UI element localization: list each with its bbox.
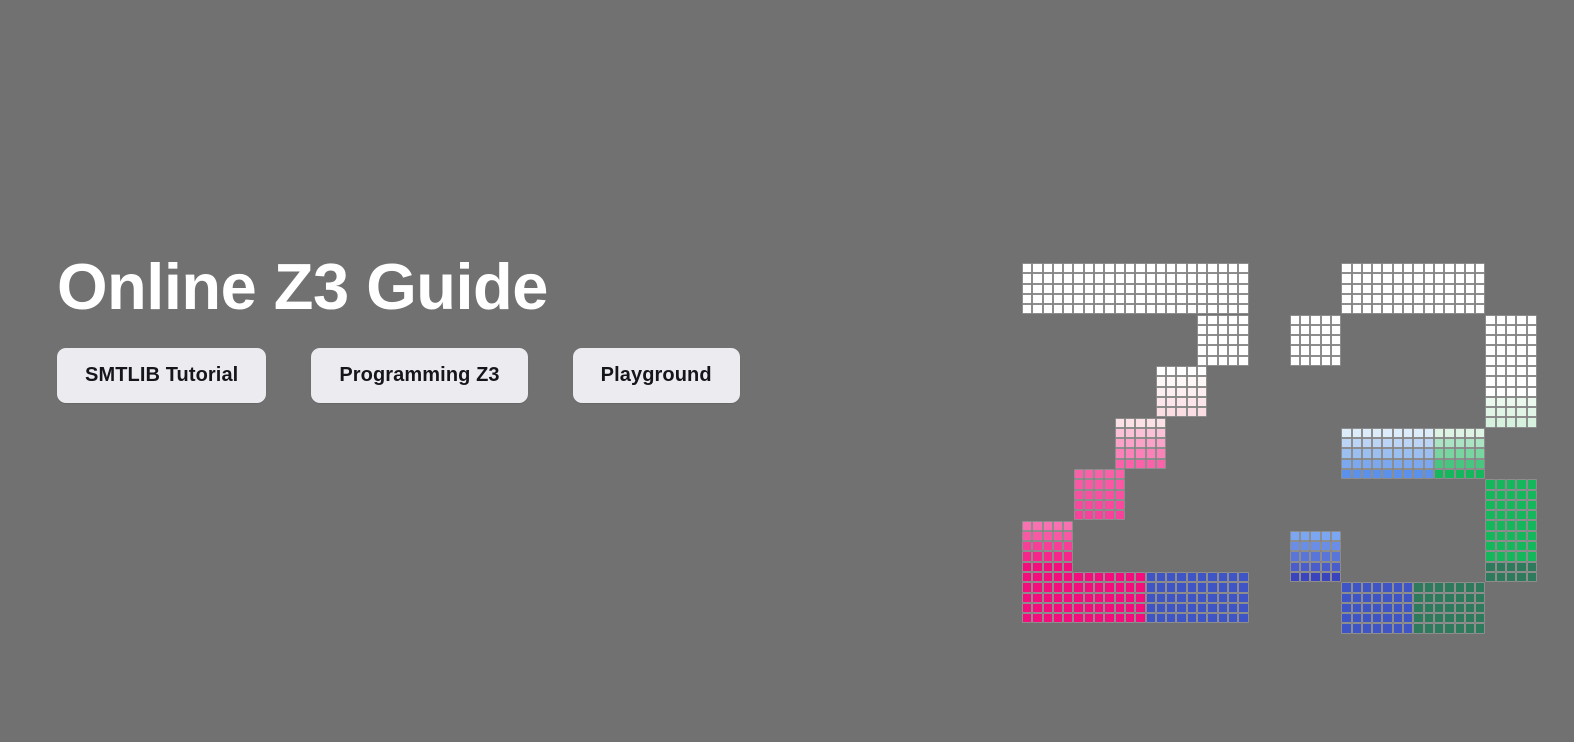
logo-pixel-cell — [1382, 448, 1392, 458]
logo-pixel-cell — [1444, 284, 1454, 294]
logo-pixel-cell — [1506, 500, 1516, 510]
logo-pixel-cell — [1352, 304, 1362, 314]
logo-pixel-cell — [1104, 294, 1114, 304]
logo-pixel-cell — [1403, 459, 1413, 469]
logo-pixel-cell — [1166, 263, 1176, 273]
logo-pixel-cell — [1218, 335, 1228, 345]
logo-pixel-cell — [1146, 273, 1156, 283]
logo-pixel-cell — [1022, 582, 1032, 592]
logo-pixel-cell — [1073, 284, 1083, 294]
three-mid-green — [1434, 428, 1485, 479]
z-top-bar — [1022, 263, 1249, 314]
logo-pixel-cell — [1331, 572, 1341, 582]
logo-pixel-cell — [1197, 366, 1207, 376]
logo-pixel-cell — [1290, 325, 1300, 335]
logo-pixel-cell — [1424, 438, 1434, 448]
logo-pixel-cell — [1321, 335, 1331, 345]
logo-pixel-cell — [1032, 294, 1042, 304]
logo-pixel-cell — [1135, 428, 1145, 438]
logo-pixel-cell — [1434, 428, 1444, 438]
logo-pixel-cell — [1321, 541, 1331, 551]
logo-pixel-cell — [1352, 582, 1362, 592]
logo-pixel-cell — [1434, 603, 1444, 613]
logo-pixel-cell — [1166, 284, 1176, 294]
logo-pixel-cell — [1197, 603, 1207, 613]
logo-pixel-cell — [1321, 531, 1331, 541]
logo-pixel-cell — [1362, 284, 1372, 294]
logo-pixel-cell — [1146, 304, 1156, 314]
logo-pixel-cell — [1341, 582, 1351, 592]
logo-pixel-cell — [1300, 356, 1310, 366]
logo-pixel-cell — [1434, 263, 1444, 273]
logo-pixel-cell — [1455, 263, 1465, 273]
logo-pixel-cell — [1290, 345, 1300, 355]
logo-pixel-cell — [1125, 428, 1135, 438]
logo-pixel-cell — [1207, 572, 1217, 582]
logo-pixel-cell — [1166, 572, 1176, 582]
logo-pixel-cell — [1207, 356, 1217, 366]
logo-pixel-cell — [1496, 376, 1506, 386]
logo-pixel-cell — [1032, 572, 1042, 582]
logo-pixel-cell — [1043, 603, 1053, 613]
three-upper-right — [1485, 315, 1536, 397]
logo-pixel-cell — [1496, 397, 1506, 407]
logo-pixel-cell — [1310, 531, 1320, 541]
logo-pixel-cell — [1382, 582, 1392, 592]
logo-pixel-cell — [1527, 551, 1537, 561]
logo-pixel-cell — [1393, 273, 1403, 283]
logo-pixel-cell — [1393, 613, 1403, 623]
logo-pixel-cell — [1506, 490, 1516, 500]
logo-pixel-cell — [1032, 263, 1042, 273]
logo-pixel-cell — [1187, 387, 1197, 397]
logo-pixel-cell — [1094, 294, 1104, 304]
logo-pixel-cell — [1146, 582, 1156, 592]
logo-pixel-cell — [1516, 572, 1526, 582]
logo-pixel-cell — [1125, 273, 1135, 283]
logo-pixel-cell — [1063, 613, 1073, 623]
logo-pixel-cell — [1352, 284, 1362, 294]
smtlib-tutorial-button[interactable]: SMTLIB Tutorial — [57, 348, 266, 403]
logo-pixel-cell — [1228, 315, 1238, 325]
logo-pixel-cell — [1403, 593, 1413, 603]
logo-pixel-cell — [1084, 273, 1094, 283]
logo-pixel-cell — [1228, 263, 1238, 273]
logo-pixel-cell — [1506, 407, 1516, 417]
logo-pixel-cell — [1331, 356, 1341, 366]
logo-pixel-cell — [1032, 551, 1042, 561]
logo-pixel-cell — [1403, 469, 1413, 479]
three-mid-blue — [1341, 428, 1434, 479]
logo-pixel-cell — [1156, 603, 1166, 613]
logo-pixel-cell — [1331, 531, 1341, 541]
logo-pixel-cell — [1022, 531, 1032, 541]
logo-pixel-cell — [1084, 469, 1094, 479]
logo-pixel-cell — [1382, 294, 1392, 304]
logo-pixel-cell — [1022, 294, 1032, 304]
logo-pixel-cell — [1424, 623, 1434, 633]
logo-pixel-cell — [1218, 613, 1228, 623]
logo-pixel-cell — [1310, 572, 1320, 582]
z3-pixel-logo — [1022, 263, 1522, 583]
logo-pixel-cell — [1362, 428, 1372, 438]
logo-pixel-cell — [1527, 510, 1537, 520]
logo-pixel-cell — [1506, 397, 1516, 407]
logo-pixel-cell — [1197, 593, 1207, 603]
logo-pixel-cell — [1073, 304, 1083, 314]
logo-pixel-cell — [1074, 479, 1084, 489]
logo-pixel-cell — [1455, 448, 1465, 458]
programming-z3-button[interactable]: Programming Z3 — [311, 348, 527, 403]
logo-pixel-cell — [1146, 294, 1156, 304]
logo-pixel-cell — [1176, 273, 1186, 283]
logo-pixel-cell — [1424, 593, 1434, 603]
logo-pixel-cell — [1403, 603, 1413, 613]
logo-pixel-cell — [1300, 335, 1310, 345]
logo-pixel-cell — [1475, 469, 1485, 479]
logo-pixel-cell — [1434, 438, 1444, 448]
logo-pixel-cell — [1352, 613, 1362, 623]
logo-pixel-cell — [1527, 479, 1537, 489]
logo-pixel-cell — [1290, 541, 1300, 551]
logo-pixel-cell — [1290, 315, 1300, 325]
logo-pixel-cell — [1341, 448, 1351, 458]
logo-pixel-cell — [1290, 356, 1300, 366]
logo-pixel-cell — [1207, 593, 1217, 603]
logo-pixel-cell — [1465, 469, 1475, 479]
logo-pixel-cell — [1506, 356, 1516, 366]
three-bottom-blue — [1341, 582, 1413, 633]
logo-pixel-cell — [1516, 325, 1526, 335]
logo-pixel-cell — [1125, 284, 1135, 294]
logo-pixel-cell — [1475, 459, 1485, 469]
logo-pixel-cell — [1506, 315, 1516, 325]
logo-pixel-cell — [1166, 366, 1176, 376]
logo-pixel-cell — [1485, 335, 1495, 345]
logo-pixel-cell — [1413, 613, 1423, 623]
logo-pixel-cell — [1516, 407, 1526, 417]
logo-pixel-cell — [1496, 356, 1506, 366]
logo-pixel-cell — [1403, 448, 1413, 458]
logo-pixel-cell — [1053, 603, 1063, 613]
logo-pixel-cell — [1043, 562, 1053, 572]
logo-pixel-cell — [1413, 284, 1423, 294]
logo-pixel-cell — [1475, 623, 1485, 633]
logo-pixel-cell — [1393, 459, 1403, 469]
logo-pixel-cell — [1516, 397, 1526, 407]
logo-pixel-cell — [1496, 417, 1506, 427]
logo-pixel-cell — [1372, 273, 1382, 283]
logo-pixel-cell — [1228, 593, 1238, 603]
logo-pixel-cell — [1413, 582, 1423, 592]
logo-pixel-cell — [1135, 603, 1145, 613]
logo-pixel-cell — [1043, 263, 1053, 273]
logo-pixel-cell — [1197, 356, 1207, 366]
logo-pixel-cell — [1465, 623, 1475, 633]
logo-pixel-cell — [1485, 500, 1495, 510]
logo-pixel-cell — [1455, 284, 1465, 294]
logo-pixel-cell — [1362, 603, 1372, 613]
logo-pixel-cell — [1063, 593, 1073, 603]
logo-pixel-cell — [1197, 345, 1207, 355]
logo-pixel-cell — [1197, 315, 1207, 325]
logo-pixel-cell — [1156, 613, 1166, 623]
logo-pixel-cell — [1063, 263, 1073, 273]
logo-pixel-cell — [1218, 273, 1228, 283]
logo-pixel-cell — [1197, 582, 1207, 592]
logo-pixel-cell — [1228, 613, 1238, 623]
logo-pixel-cell — [1197, 407, 1207, 417]
logo-pixel-cell — [1032, 304, 1042, 314]
logo-pixel-cell — [1444, 428, 1454, 438]
logo-pixel-cell — [1135, 263, 1145, 273]
logo-pixel-cell — [1073, 572, 1083, 582]
logo-pixel-cell — [1238, 593, 1248, 603]
logo-pixel-cell — [1043, 294, 1053, 304]
logo-pixel-cell — [1393, 438, 1403, 448]
logo-pixel-cell — [1094, 469, 1104, 479]
logo-pixel-cell — [1496, 500, 1506, 510]
logo-pixel-cell — [1424, 603, 1434, 613]
logo-pixel-cell — [1063, 531, 1073, 541]
logo-pixel-cell — [1197, 304, 1207, 314]
logo-pixel-cell — [1475, 613, 1485, 623]
logo-pixel-cell — [1115, 284, 1125, 294]
logo-pixel-cell — [1475, 428, 1485, 438]
logo-pixel-cell — [1475, 273, 1485, 283]
logo-pixel-cell — [1310, 315, 1320, 325]
logo-pixel-cell — [1084, 294, 1094, 304]
logo-pixel-cell — [1084, 572, 1094, 582]
logo-pixel-cell — [1352, 459, 1362, 469]
logo-pixel-cell — [1094, 263, 1104, 273]
logo-pixel-cell — [1506, 479, 1516, 489]
logo-pixel-cell — [1187, 366, 1197, 376]
logo-pixel-cell — [1465, 428, 1475, 438]
logo-pixel-cell — [1063, 541, 1073, 551]
logo-pixel-cell — [1074, 500, 1084, 510]
logo-pixel-cell — [1043, 572, 1053, 582]
logo-pixel-cell — [1146, 593, 1156, 603]
logo-pixel-cell — [1032, 582, 1042, 592]
logo-pixel-cell — [1496, 387, 1506, 397]
logo-pixel-cell — [1084, 582, 1094, 592]
logo-pixel-cell — [1176, 582, 1186, 592]
logo-pixel-cell — [1187, 572, 1197, 582]
logo-pixel-cell — [1022, 284, 1032, 294]
logo-pixel-cell — [1063, 603, 1073, 613]
logo-pixel-cell — [1207, 315, 1217, 325]
logo-pixel-cell — [1176, 304, 1186, 314]
z-bottom-pink — [1022, 572, 1146, 623]
logo-pixel-cell — [1372, 603, 1382, 613]
logo-pixel-cell — [1156, 387, 1166, 397]
logo-pixel-cell — [1104, 603, 1114, 613]
logo-pixel-cell — [1218, 284, 1228, 294]
logo-pixel-cell — [1032, 562, 1042, 572]
logo-pixel-cell — [1310, 356, 1320, 366]
logo-pixel-cell — [1465, 459, 1475, 469]
logo-pixel-cell — [1207, 345, 1217, 355]
logo-pixel-cell — [1176, 376, 1186, 386]
logo-pixel-cell — [1424, 284, 1434, 294]
logo-pixel-cell — [1424, 459, 1434, 469]
logo-pixel-cell — [1455, 593, 1465, 603]
logo-pixel-cell — [1341, 593, 1351, 603]
logo-pixel-cell — [1176, 613, 1186, 623]
logo-pixel-cell — [1434, 304, 1444, 314]
logo-pixel-cell — [1043, 551, 1053, 561]
logo-pixel-cell — [1300, 325, 1310, 335]
logo-pixel-cell — [1197, 387, 1207, 397]
logo-pixel-cell — [1238, 304, 1248, 314]
logo-pixel-cell — [1218, 315, 1228, 325]
logo-pixel-cell — [1238, 325, 1248, 335]
logo-pixel-cell — [1352, 294, 1362, 304]
logo-pixel-cell — [1115, 582, 1125, 592]
logo-pixel-cell — [1228, 603, 1238, 613]
logo-pixel-cell — [1115, 418, 1125, 428]
logo-pixel-cell — [1465, 593, 1475, 603]
logo-pixel-cell — [1187, 603, 1197, 613]
logo-pixel-cell — [1187, 304, 1197, 314]
logo-pixel-cell — [1053, 562, 1063, 572]
logo-pixel-cell — [1485, 562, 1495, 572]
logo-pixel-cell — [1310, 325, 1320, 335]
logo-pixel-cell — [1218, 603, 1228, 613]
logo-pixel-cell — [1362, 582, 1372, 592]
logo-pixel-cell — [1197, 335, 1207, 345]
logo-pixel-cell — [1238, 603, 1248, 613]
logo-pixel-cell — [1166, 376, 1176, 386]
logo-pixel-cell — [1516, 510, 1526, 520]
logo-pixel-cell — [1166, 407, 1176, 417]
logo-pixel-cell — [1413, 273, 1423, 283]
logo-pixel-cell — [1382, 273, 1392, 283]
logo-pixel-cell — [1187, 284, 1197, 294]
logo-pixel-cell — [1135, 593, 1145, 603]
logo-pixel-cell — [1300, 531, 1310, 541]
logo-pixel-cell — [1393, 284, 1403, 294]
logo-pixel-cell — [1413, 469, 1423, 479]
logo-pixel-cell — [1228, 294, 1238, 304]
logo-pixel-cell — [1434, 294, 1444, 304]
logo-pixel-cell — [1032, 603, 1042, 613]
logo-pixel-cell — [1341, 623, 1351, 633]
logo-pixel-cell — [1094, 304, 1104, 314]
logo-pixel-cell — [1146, 263, 1156, 273]
logo-pixel-cell — [1485, 366, 1495, 376]
logo-pixel-cell — [1352, 438, 1362, 448]
logo-pixel-cell — [1465, 603, 1475, 613]
logo-pixel-cell — [1485, 325, 1495, 335]
logo-pixel-cell — [1063, 273, 1073, 283]
three-top-left-stub — [1290, 315, 1341, 366]
logo-pixel-cell — [1094, 490, 1104, 500]
logo-pixel-cell — [1372, 469, 1382, 479]
logo-pixel-cell — [1053, 572, 1063, 582]
logo-pixel-cell — [1321, 345, 1331, 355]
logo-pixel-cell — [1156, 284, 1166, 294]
logo-pixel-cell — [1516, 345, 1526, 355]
logo-pixel-cell — [1207, 304, 1217, 314]
logo-pixel-cell — [1413, 593, 1423, 603]
logo-pixel-cell — [1238, 315, 1248, 325]
logo-pixel-cell — [1506, 510, 1516, 520]
logo-pixel-cell — [1352, 428, 1362, 438]
logo-pixel-cell — [1444, 263, 1454, 273]
logo-pixel-cell — [1506, 520, 1516, 530]
logo-pixel-cell — [1043, 593, 1053, 603]
logo-pixel-cell — [1341, 284, 1351, 294]
logo-pixel-cell — [1475, 294, 1485, 304]
logo-pixel-cell — [1506, 335, 1516, 345]
logo-pixel-cell — [1156, 366, 1166, 376]
logo-pixel-cell — [1022, 541, 1032, 551]
logo-pixel-cell — [1074, 510, 1084, 520]
logo-pixel-cell — [1238, 335, 1248, 345]
logo-pixel-cell — [1382, 263, 1392, 273]
logo-pixel-cell — [1115, 273, 1125, 283]
logo-pixel-cell — [1156, 376, 1166, 386]
logo-pixel-cell — [1166, 397, 1176, 407]
logo-pixel-cell — [1238, 582, 1248, 592]
logo-pixel-cell — [1228, 284, 1238, 294]
logo-pixel-cell — [1053, 551, 1063, 561]
playground-button[interactable]: Playground — [573, 348, 740, 403]
logo-pixel-cell — [1300, 551, 1310, 561]
logo-pixel-cell — [1135, 448, 1145, 458]
logo-pixel-cell — [1084, 510, 1094, 520]
logo-pixel-cell — [1073, 603, 1083, 613]
logo-pixel-cell — [1146, 603, 1156, 613]
logo-pixel-cell — [1228, 582, 1238, 592]
hero-section: Online Z3 Guide SMTLIB Tutorial Programm… — [0, 0, 1574, 742]
logo-pixel-cell — [1238, 572, 1248, 582]
logo-pixel-cell — [1382, 623, 1392, 633]
logo-pixel-cell — [1166, 593, 1176, 603]
logo-pixel-cell — [1207, 603, 1217, 613]
logo-pixel-cell — [1207, 613, 1217, 623]
logo-pixel-cell — [1516, 562, 1526, 572]
logo-pixel-cell — [1485, 520, 1495, 530]
logo-pixel-cell — [1465, 284, 1475, 294]
logo-pixel-cell — [1146, 448, 1156, 458]
z-step-1 — [1197, 315, 1248, 366]
logo-pixel-cell — [1135, 613, 1145, 623]
logo-pixel-cell — [1135, 459, 1145, 469]
logo-pixel-cell — [1362, 613, 1372, 623]
logo-pixel-cell — [1352, 263, 1362, 273]
logo-pixel-cell — [1176, 407, 1186, 417]
logo-pixel-cell — [1228, 345, 1238, 355]
logo-pixel-cell — [1084, 500, 1094, 510]
logo-pixel-cell — [1125, 294, 1135, 304]
logo-pixel-cell — [1341, 603, 1351, 613]
logo-pixel-cell — [1053, 521, 1063, 531]
logo-pixel-cell — [1413, 304, 1423, 314]
logo-pixel-cell — [1465, 448, 1475, 458]
logo-pixel-cell — [1197, 572, 1207, 582]
logo-pixel-cell — [1115, 469, 1125, 479]
logo-pixel-cell — [1506, 345, 1516, 355]
logo-pixel-cell — [1382, 593, 1392, 603]
logo-pixel-cell — [1187, 376, 1197, 386]
logo-pixel-cell — [1506, 376, 1516, 386]
logo-pixel-cell — [1218, 325, 1228, 335]
logo-pixel-cell — [1434, 448, 1444, 458]
logo-pixel-cell — [1352, 623, 1362, 633]
